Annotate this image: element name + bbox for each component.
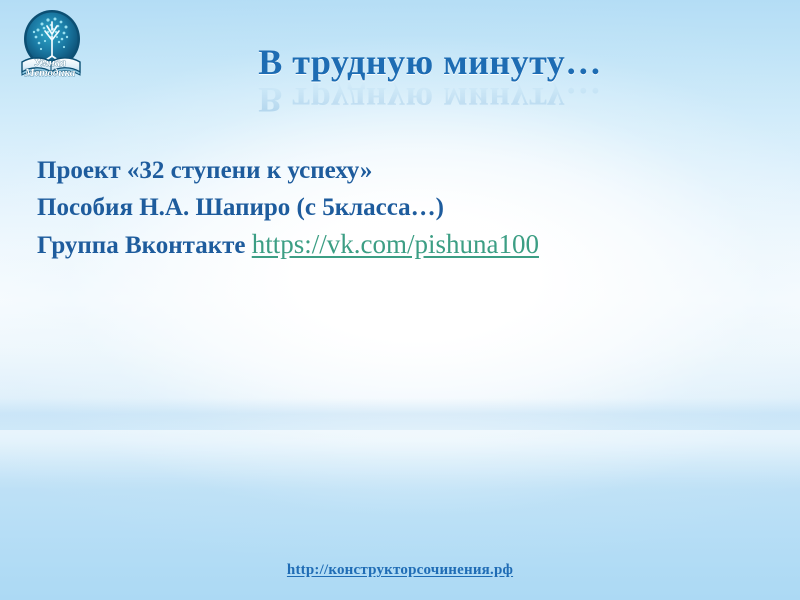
umnaya-metodika-logo: Умная Методика xyxy=(12,6,92,84)
background-haze-band-secondary xyxy=(0,430,800,490)
slide-body-block: Проект «32 ступени к успеху» Пособия Н.А… xyxy=(37,152,757,264)
body-line-2: Пособия Н.А. Шапиро (с 5класса…) xyxy=(37,189,757,226)
background-haze-band xyxy=(0,398,800,440)
body-line-1: Проект «32 ступени к успеху» xyxy=(37,152,757,189)
footer-site-link[interactable]: http://конструкторсочинения.рф xyxy=(287,562,513,578)
logo-word-bottom: Методика xyxy=(24,67,76,79)
presentation-slide: Умная Методика В трудную минуту… В трудн… xyxy=(0,0,800,600)
slide-title-block: В трудную минуту… В трудную минуту… xyxy=(150,42,710,120)
body-line-3: Группа Вконтакте https://vk.com/pishuna1… xyxy=(37,226,757,264)
slide-footer: http://конструкторсочинения.рф xyxy=(0,561,800,579)
vk-line-prefix: Группа Вконтакте xyxy=(37,232,252,259)
vk-group-link[interactable]: https://vk.com/pishuna100 xyxy=(252,229,539,259)
logo-tree-book-icon: Умная Методика xyxy=(12,6,92,84)
page-title-reflection: В трудную минуту… xyxy=(150,80,710,120)
page-title: В трудную минуту… xyxy=(150,42,710,82)
